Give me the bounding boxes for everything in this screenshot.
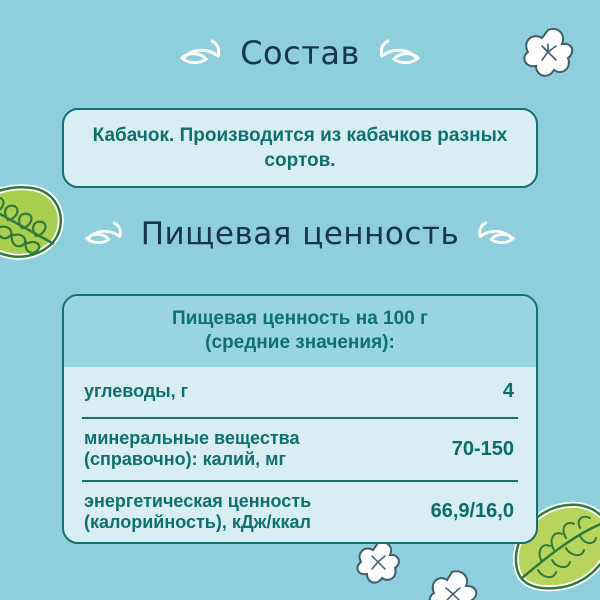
ingredients-card: Кабачок. Производится из кабачков разных… — [62, 108, 538, 188]
page-title: Состав — [240, 34, 360, 72]
nutrient-value: 70-150 — [452, 438, 514, 461]
nutrition-title: Пищевая ценность — [141, 216, 460, 252]
nutrient-label: углеводы, г — [84, 381, 188, 402]
nutrient-label: минеральные вещества (справочно): калий,… — [84, 428, 300, 470]
section-heading-ingredients: Состав — [0, 34, 600, 72]
table-row: энергетическая ценность (калорийность), … — [82, 482, 518, 542]
nutrition-table-title-line1: Пищевая ценность на 100 г — [74, 307, 526, 331]
nutrition-row-list: углеводы, г 4 минеральные вещества (спра… — [64, 367, 536, 542]
nutrition-table-header: Пищевая ценность на 100 г (средние значе… — [64, 296, 536, 367]
table-row: углеводы, г 4 — [82, 367, 518, 419]
nutrient-label: энергетическая ценность (калорийность), … — [84, 491, 311, 533]
leaf-flourish-icon — [374, 36, 420, 71]
leaf-flourish-icon — [473, 218, 515, 251]
leaf-flourish-icon — [85, 218, 127, 251]
ingredients-text: Кабачок. Производится из кабачков разных… — [64, 123, 536, 174]
nutrition-table-title-line2: (средние значения): — [74, 331, 526, 355]
table-row: минеральные вещества (справочно): калий,… — [82, 419, 518, 481]
nutrient-value: 66,9/16,0 — [431, 500, 514, 523]
flower-icon — [424, 568, 482, 600]
section-heading-nutrition: Пищевая ценность — [0, 216, 600, 252]
nutrition-table-card: Пищевая ценность на 100 г (средние значе… — [62, 294, 538, 544]
leaf-flourish-icon — [180, 36, 226, 71]
label-canvas: Состав Кабачок. Производится из кабачков… — [0, 0, 600, 600]
nutrient-value: 4 — [503, 380, 514, 403]
flower-icon — [352, 538, 404, 588]
